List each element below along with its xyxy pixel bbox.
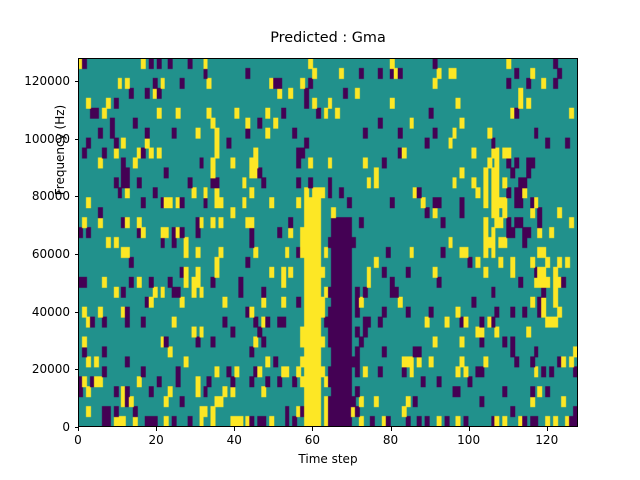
x-tick-mark — [547, 427, 548, 431]
y-tick-mark — [75, 81, 79, 82]
x-tick-mark — [469, 427, 470, 431]
y-tick-mark — [75, 139, 79, 140]
x-tick-mark — [234, 427, 235, 431]
y-tick-mark — [75, 427, 79, 428]
x-tick-label: 20 — [121, 433, 191, 447]
y-tick-mark — [75, 196, 79, 197]
y-tick-mark — [75, 312, 79, 313]
y-tick-mark — [75, 254, 79, 255]
x-tick-mark — [156, 427, 157, 431]
x-tick-label: 80 — [356, 433, 426, 447]
x-tick-label: 60 — [277, 433, 347, 447]
heatmap-image — [79, 59, 577, 426]
y-tick-mark — [75, 369, 79, 370]
x-tick-mark — [312, 427, 313, 431]
x-tick-mark — [391, 427, 392, 431]
x-tick-label: 100 — [434, 433, 504, 447]
matplotlib-figure: Predicted : Gma 020406080100120 02000040… — [0, 0, 640, 480]
heatmap-axes — [78, 58, 578, 427]
y-axis-label: Frequency (Hz) — [53, 50, 67, 250]
x-tick-label: 40 — [199, 433, 269, 447]
x-tick-label: 0 — [43, 433, 113, 447]
chart-title: Predicted : Gma — [78, 30, 578, 46]
y-tick-label: 40000 — [0, 305, 70, 319]
x-tick-label: 120 — [512, 433, 582, 447]
y-tick-label: 0 — [0, 420, 70, 434]
x-tick-mark — [78, 427, 79, 431]
y-tick-label: 20000 — [0, 362, 70, 376]
x-axis-label: Time step — [78, 452, 578, 466]
